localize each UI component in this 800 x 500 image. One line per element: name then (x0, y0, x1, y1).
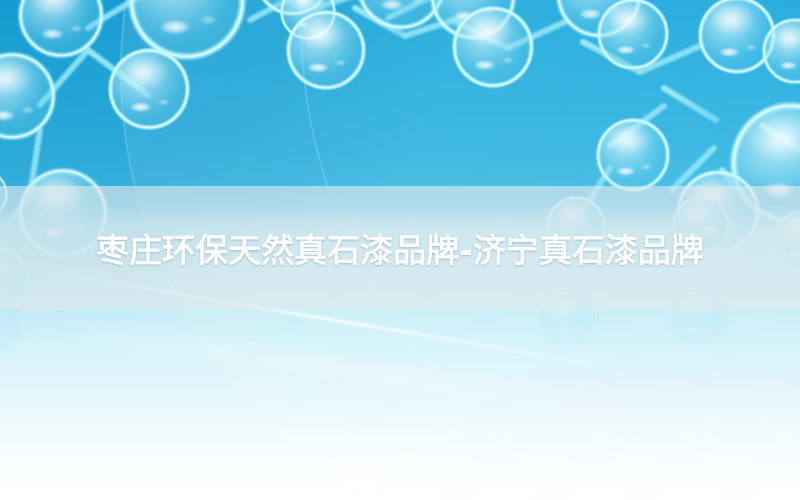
title-overlay-band: 枣庄环保天然真石漆品牌-济宁真石漆品牌 (0, 186, 800, 310)
banner-image: 枣庄环保天然真石漆品牌-济宁真石漆品牌 (0, 0, 800, 500)
banner-title: 枣庄环保天然真石漆品牌-济宁真石漆品牌 (96, 224, 704, 272)
